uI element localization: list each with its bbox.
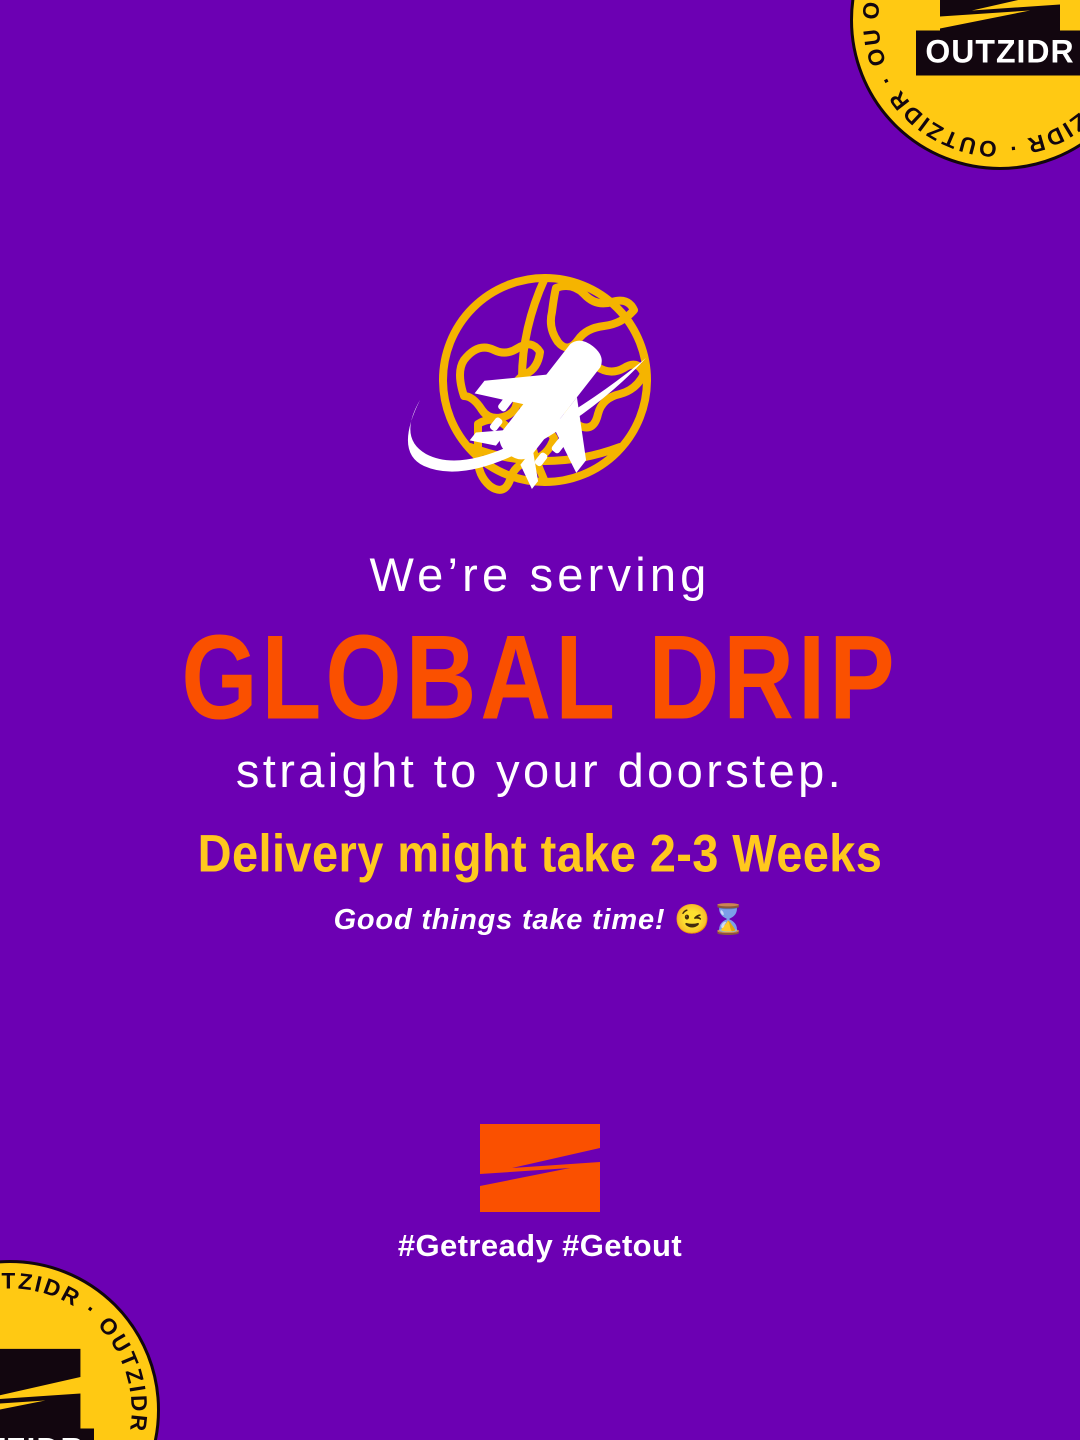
headline-block: We’re serving GLOBAL DRIP straight to yo… [0, 548, 1080, 799]
delivery-subtext: Good things take time! 😉⌛ [0, 903, 1080, 937]
delivery-subtext-label: Good things take time! [334, 904, 666, 936]
footer-block: #Getready #Getout [0, 1122, 1080, 1264]
wink-emoji-icon: 😉 [674, 904, 710, 936]
headline-line-1: We’re serving [0, 548, 1080, 603]
globe-airplane-icon [360, 272, 720, 504]
footer-tagline: #Getready #Getout [0, 1228, 1080, 1264]
hourglass-emoji-icon: ⌛ [710, 904, 746, 936]
delivery-estimate: Delivery might take 2-3 Weeks [0, 822, 1080, 884]
badge-wordmark-top-right: OUTZIDR [916, 31, 1080, 76]
delivery-block: Delivery might take 2-3 Weeks Good thing… [0, 822, 1080, 937]
headline-line-3: straight to your doorstep. [0, 743, 1080, 799]
z-logo [0, 1347, 85, 1440]
poster-canvas: We’re serving GLOBAL DRIP straight to yo… [0, 0, 1080, 1440]
headline-line-2: GLOBAL DRIP [0, 617, 1080, 737]
badge-core-bottom-left: OUTZIDR [0, 1347, 103, 1440]
badge-core-top-right: OUTZIDR [907, 0, 1080, 76]
outzidr-badge-top-right: OUTZIDR · OUTZIDR · OUTZIDR · OUTZIDR · … [850, 0, 1080, 170]
outzidr-badge-bottom-left: OUTZIDR · OUTZIDR · OUTZIDR · OUTZIDR · … [0, 1260, 160, 1440]
badge-wordmark-bottom-left: OUTZIDR [0, 1429, 94, 1440]
z-logo [478, 1122, 602, 1214]
